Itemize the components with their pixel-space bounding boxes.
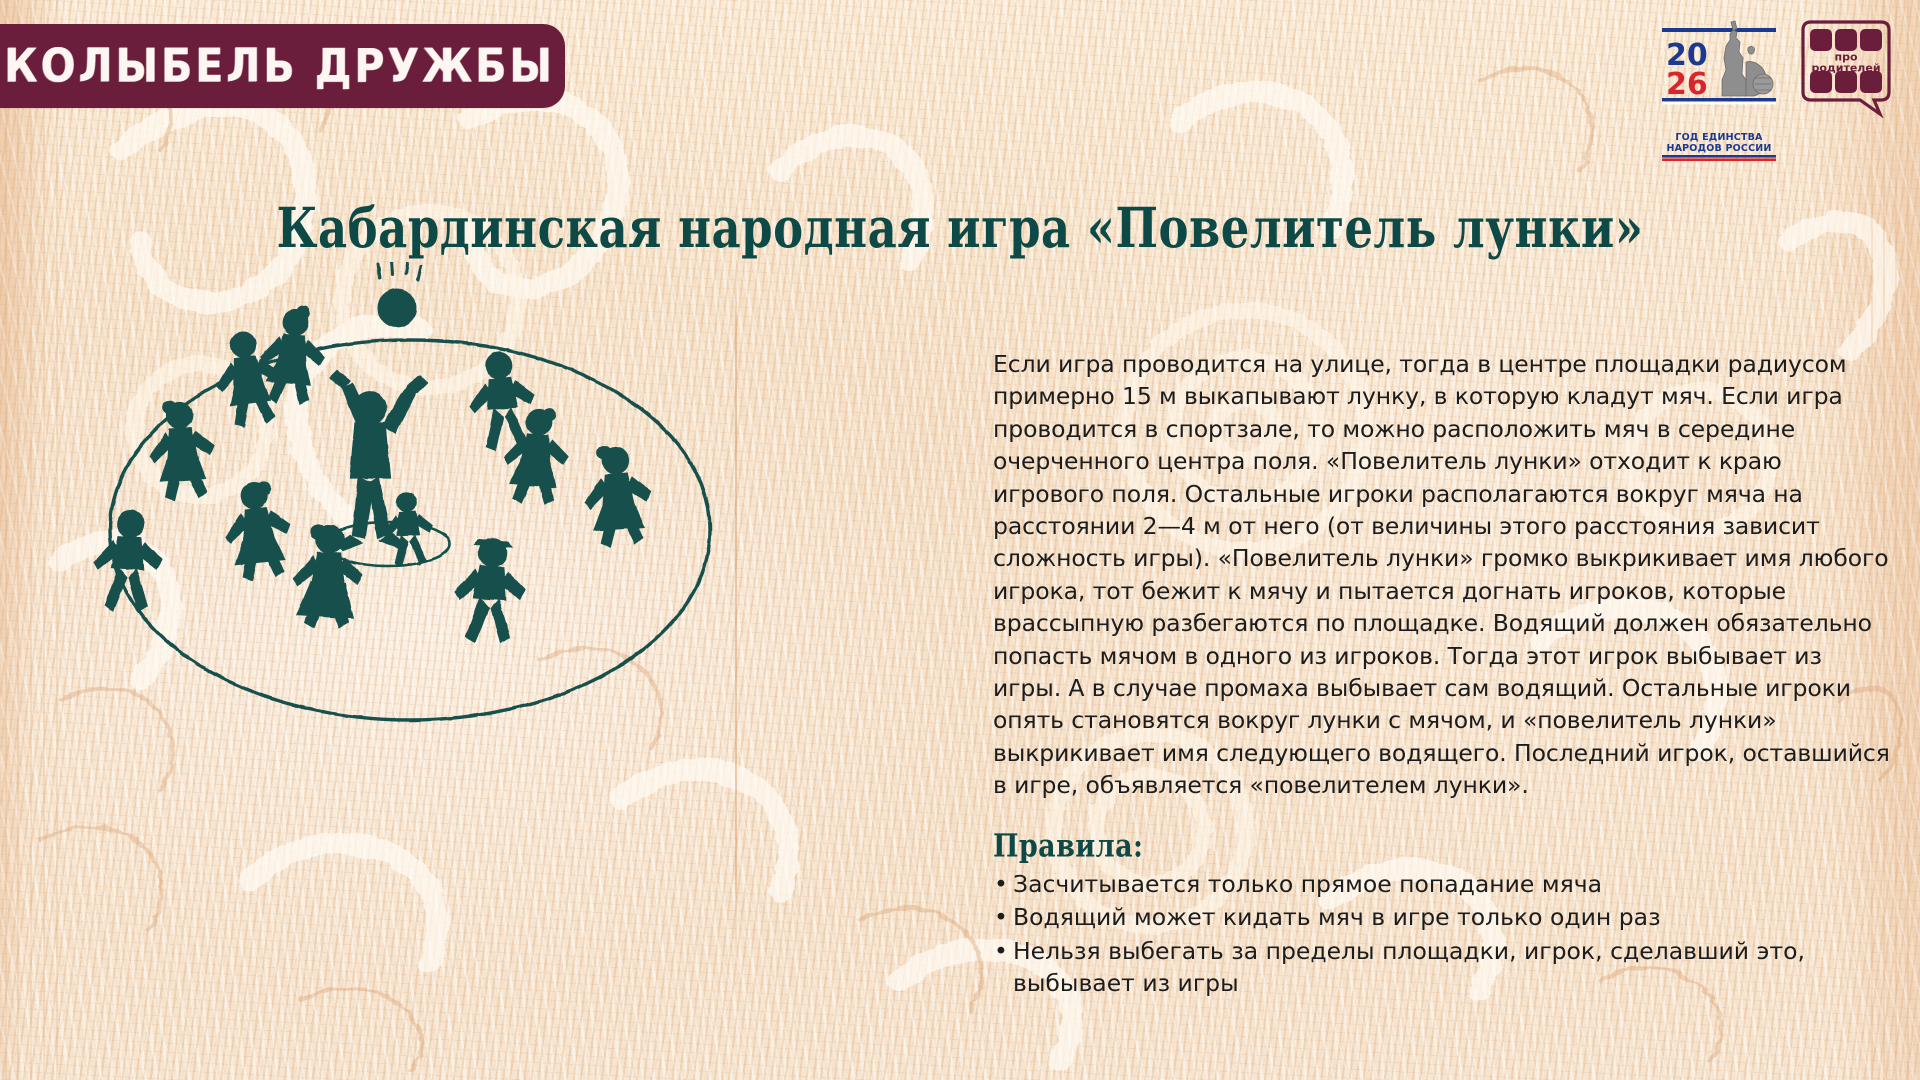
- rules-list: • Засчитывается только прямое попадание …: [993, 868, 1893, 1000]
- content-column: Если игра проводится на улице, тогда в ц…: [993, 348, 1893, 1000]
- rules-block: Правила: • Засчитывается только прямое п…: [993, 828, 1893, 1000]
- description-block: Если игра проводится на улице, тогда в ц…: [993, 348, 1893, 802]
- rules-heading: Правила:: [993, 828, 1893, 865]
- rule-text: Водящий может кидать мяч в игре только о…: [1013, 903, 1661, 931]
- logo-group: 20 26 ГОД ЕДИНСТВА НАРОДОВ РОССИИ: [1660, 18, 1892, 163]
- header-banner-title: КОЛЫБЕЛЬ ДРУЖБЫ: [0, 39, 555, 93]
- pro-roditelei-logo-graphic: про родителей: [1800, 18, 1892, 118]
- rule-text: Засчитывается только прямое попадание мя…: [1013, 870, 1602, 898]
- svg-text:26: 26: [1666, 67, 1708, 102]
- bullet-icon: •: [994, 935, 1008, 967]
- bullet-icon: •: [994, 868, 1008, 900]
- list-item: • Засчитывается только прямое попадание …: [993, 868, 1893, 900]
- header-banner: КОЛЫБЕЛЬ ДРУЖБЫ: [0, 24, 565, 108]
- page-title: Кабардинская народная игра «Повелитель л…: [0, 196, 1920, 261]
- children-playing-circle-illustration: [70, 262, 760, 752]
- pro-roditelei-logo[interactable]: про родителей: [1800, 18, 1892, 114]
- bullet-icon: •: [994, 901, 1008, 933]
- list-item: • Нельзя выбегать за пределы площадки, и…: [993, 935, 1893, 1000]
- list-item: • Водящий может кидать мяч в игре только…: [993, 901, 1893, 933]
- poster-root: КОЛЫБЕЛЬ ДРУЖБЫ 20 26: [0, 0, 1920, 1080]
- column-divider: [735, 258, 737, 958]
- year-of-unity-logo-caption: ГОД ЕДИНСТВА НАРОДОВ РОССИИ: [1666, 133, 1771, 155]
- description-paragraph: Если игра проводится на улице, тогда в ц…: [993, 348, 1893, 802]
- year-of-unity-logo[interactable]: 20 26 ГОД ЕДИНСТВА НАРОДОВ РОССИИ: [1660, 18, 1778, 163]
- pro-roditelei-line2: родителей: [1811, 62, 1880, 75]
- year-of-unity-tricolor-rule: [1660, 155, 1778, 163]
- year-of-unity-caption-line2: НАРОДОВ РОССИИ: [1666, 144, 1771, 155]
- year-of-unity-logo-graphic: 20 26: [1660, 18, 1778, 130]
- rule-text: Нельзя выбегать за пределы площадки, игр…: [1013, 937, 1805, 997]
